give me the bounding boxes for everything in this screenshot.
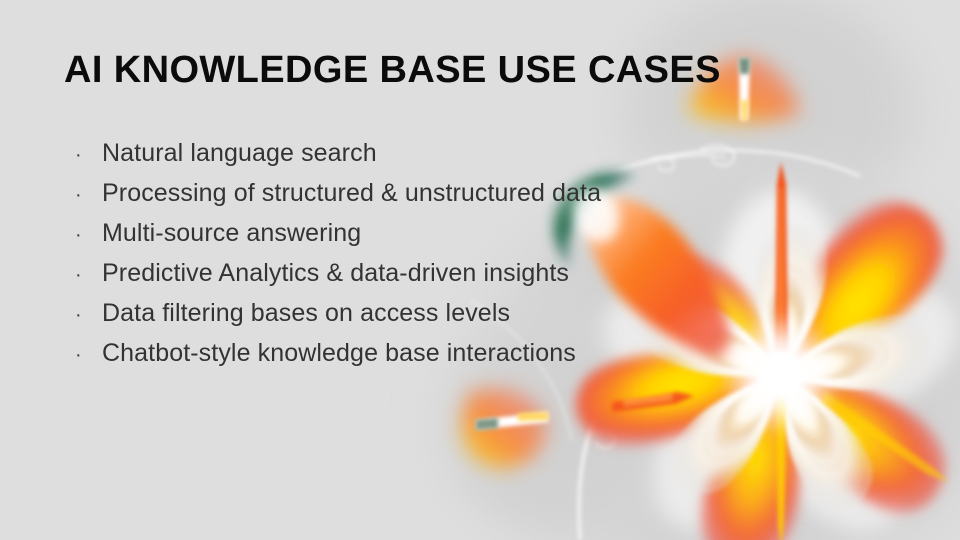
inner-petals [631,222,936,521]
list-item: · Natural language search [64,133,601,173]
list-item: · Chatbot-style knowledge base interacti… [64,333,601,373]
list-item: · Predictive Analytics & data-driven ins… [64,253,601,293]
slide-canvas: AI KNOWLEDGE BASE USE CASES · Natural la… [0,0,960,540]
use-case-list: · Natural language search · Processing o… [64,133,601,373]
list-item-label: Multi-source answering [102,213,361,253]
bullet-dot-icon: · [64,215,102,255]
bullet-dot-icon: · [64,335,102,375]
stamen-spike [775,162,788,354]
page-title: AI KNOWLEDGE BASE USE CASES [64,48,721,92]
list-item-label: Processing of structured & unstructured … [102,173,601,213]
background-blob-upper [590,0,950,260]
list-item-label: Data filtering bases on access levels [102,293,510,333]
list-item-label: Chatbot-style knowledge base interaction… [102,333,576,373]
flower-main [561,162,960,540]
bullet-dot-icon: · [64,295,102,335]
list-item: · Processing of structured & unstructure… [64,173,601,213]
bud-left [462,389,548,468]
outer-petals [561,169,960,540]
list-item-label: Natural language search [102,133,377,173]
list-item: · Data filtering bases on access levels [64,293,601,333]
bullet-dot-icon: · [64,135,102,175]
bullet-dot-icon: · [64,255,102,295]
list-item: · Multi-source answering [64,213,601,253]
accent-spike [612,392,694,412]
bullet-dot-icon: · [64,175,102,215]
list-item-label: Predictive Analytics & data-driven insig… [102,253,569,293]
